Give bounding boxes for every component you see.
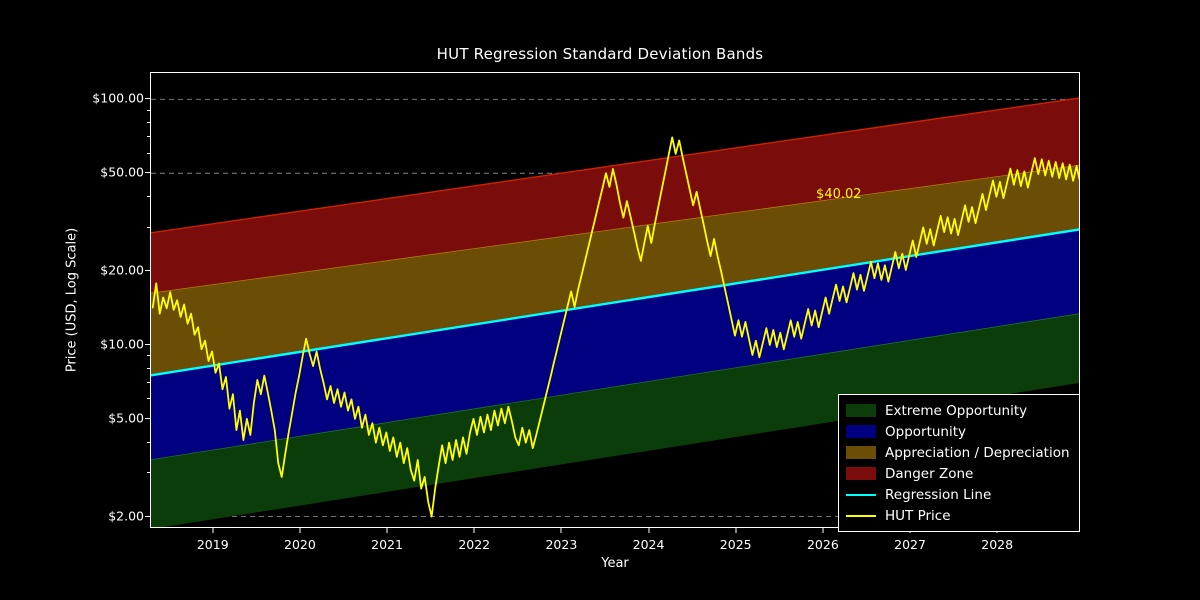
price-annotation: $40.02 — [816, 187, 862, 202]
y-tick-labels: $100.00$50.00$20.00$10.00$5.00$2.00 — [44, 72, 144, 528]
x-tick-label: 2027 — [894, 537, 926, 552]
legend-item-appreciation-depreciation[interactable]: Appreciation / Depreciation — [846, 442, 1070, 463]
legend-swatch-icon — [846, 446, 876, 459]
x-tick-label: 2028 — [981, 537, 1013, 552]
legend-line-icon — [846, 494, 876, 496]
chart-legend[interactable]: Extreme OpportunityOpportunityAppreciati… — [838, 394, 1080, 532]
x-tick-mark — [299, 528, 300, 533]
legend-item-hut-price[interactable]: HUT Price — [846, 505, 1070, 526]
legend-swatch-icon — [846, 425, 876, 438]
legend-item-danger-zone[interactable]: Danger Zone — [846, 463, 1070, 484]
x-tick-mark — [474, 528, 475, 533]
y-tick-label: $5.00 — [48, 410, 144, 425]
y-tick-label: $20.00 — [48, 262, 144, 277]
legend-item-regression-line[interactable]: Regression Line — [846, 484, 1070, 505]
x-tick-label: 2022 — [458, 537, 490, 552]
x-tick-label: 2025 — [720, 537, 752, 552]
legend-swatch-icon — [846, 467, 876, 480]
x-tick-mark — [387, 528, 388, 533]
y-tick-label: $100.00 — [48, 91, 144, 106]
chart-figure: HUT Regression Standard Deviation Bands … — [0, 0, 1200, 600]
legend-swatch-icon — [846, 404, 876, 417]
x-tick-label: 2020 — [284, 537, 316, 552]
y-tick-label: $10.00 — [48, 336, 144, 351]
legend-line-icon — [846, 515, 876, 517]
x-tick-mark — [648, 528, 649, 533]
x-tick-mark — [822, 528, 823, 533]
x-tick-label: 2019 — [197, 537, 229, 552]
x-tick-mark — [735, 528, 736, 533]
chart-title: HUT Regression Standard Deviation Bands — [0, 45, 1200, 63]
y-tick-label: $50.00 — [48, 165, 144, 180]
legend-item-extreme-opportunity[interactable]: Extreme Opportunity — [846, 400, 1070, 421]
x-tick-mark — [561, 528, 562, 533]
x-tick-mark — [212, 528, 213, 533]
x-tick-label: 2023 — [545, 537, 577, 552]
legend-label: Extreme Opportunity — [885, 403, 1027, 419]
legend-item-opportunity[interactable]: Opportunity — [846, 421, 1070, 442]
x-tick-label: 2024 — [633, 537, 665, 552]
legend-label: HUT Price — [885, 508, 951, 524]
x-axis-label: Year — [150, 556, 1080, 571]
legend-label: Appreciation / Depreciation — [885, 445, 1070, 461]
x-tick-label: 2026 — [807, 537, 839, 552]
x-tick-label: 2021 — [371, 537, 403, 552]
legend-label: Regression Line — [885, 487, 991, 503]
legend-label: Opportunity — [885, 424, 966, 440]
y-tick-label: $2.00 — [48, 508, 144, 523]
legend-label: Danger Zone — [885, 466, 973, 482]
